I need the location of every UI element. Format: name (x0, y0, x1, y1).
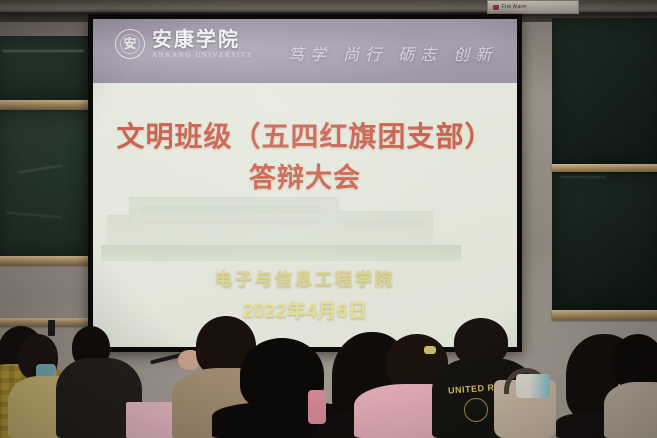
hair-clip (424, 346, 436, 354)
alarm-icon (493, 5, 499, 10)
chalk-rail-left-upper (0, 100, 92, 109)
handbag-contents (516, 374, 550, 398)
university-name-cn: 安康学院 (152, 29, 253, 50)
pink-water-bottle (308, 390, 326, 424)
blackboard-left-lower (0, 110, 92, 258)
chalk-rail-right-upper (552, 164, 657, 172)
pink-notebook (126, 402, 172, 438)
slide-footer: 电子与信息工程学院 2022年4月6日 (93, 264, 517, 323)
slide-header-band: 安 安康学院 ANKANG UNIVERSITY 笃学 尚行 砺志 创新 (93, 19, 517, 83)
blackboard-right-upper (552, 18, 657, 166)
wall-sign-label: Fire Alarm (502, 4, 527, 10)
slide-title: 文明班级（五四红旗团支部） 答辩大会 (93, 115, 517, 200)
emblem-glyph: 安 (123, 38, 136, 51)
university-name-en: ANKANG UNIVERSITY (152, 51, 253, 59)
slide-title-line1: 文明班级（五四红旗团支部） (93, 115, 517, 158)
university-motto: 笃学 尚行 砺志 创新 (288, 41, 497, 65)
blackboard-right-lower (552, 172, 657, 314)
blackboard-left-upper (0, 36, 92, 102)
shirt-emblem (464, 398, 488, 422)
audience-row: UNITED R (0, 318, 657, 438)
torso (604, 382, 657, 438)
university-emblem-icon: 安 (115, 29, 145, 59)
university-logo: 安 安康学院 ANKANG UNIVERSITY (115, 29, 253, 59)
slide-organization: 电子与信息工程学院 (93, 264, 517, 296)
presentation-slide: 安 安康学院 ANKANG UNIVERSITY 笃学 尚行 砺志 创新 文明班… (93, 19, 517, 347)
wall-sign: Fire Alarm (487, 0, 579, 14)
slide-title-line2: 答辩大会 (93, 158, 517, 200)
classroom-scene: Fire Alarm 安 (0, 0, 657, 438)
chalk-rail-left-lower (0, 256, 92, 265)
projection-screen: 安 安康学院 ANKANG UNIVERSITY 笃学 尚行 砺志 创新 文明班… (88, 14, 522, 352)
